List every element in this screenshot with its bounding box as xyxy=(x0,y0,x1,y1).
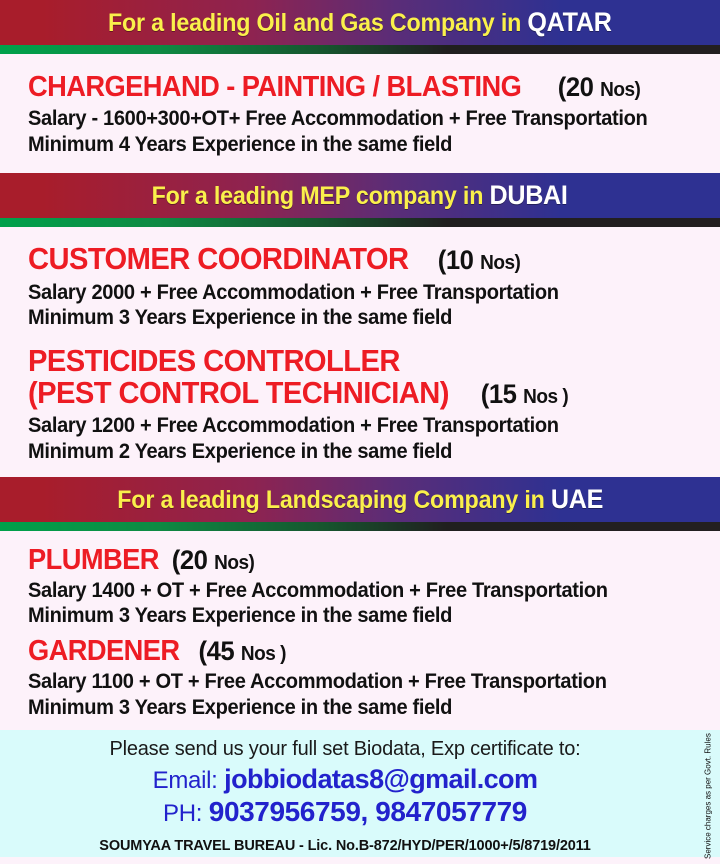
service-charge-note: Service charges as per Govt. Rules xyxy=(700,744,716,849)
job-heading: PLUMBER(20 Nos) xyxy=(28,545,710,575)
job-salary: Salary 2000 + Free Accommodation + Free … xyxy=(28,280,679,306)
job-vacancy-count: (15 Nos ) xyxy=(476,380,568,408)
job-heading: CHARGEHAND - PAINTING / BLASTING(20 Nos) xyxy=(28,72,710,102)
email-line: Email: jobbiodatas8@gmail.com xyxy=(0,764,720,795)
banner-lead-text: For a leading Oil and Gas Company in xyxy=(108,9,527,37)
job-count-number: (10 xyxy=(438,245,474,275)
agency-license-text: SOUMYAA TRAVEL BUREAU - Lic. No.B-872/HY… xyxy=(0,838,720,854)
job-vacancy-count: (20 Nos) xyxy=(167,546,254,574)
job-salary: Salary - 1600+300+OT+ Free Accommodation… xyxy=(28,106,679,132)
job-count-unit: Nos) xyxy=(600,79,640,101)
job-count-unit: Nos ) xyxy=(523,386,568,408)
contact-footer: Please send us your full set Biodata, Ex… xyxy=(0,730,720,857)
banner-country-name: QATAR xyxy=(528,7,612,37)
job-vacancy-count: (45 Nos ) xyxy=(189,637,286,665)
job-advertisement: For a leading Oil and Gas Company in QAT… xyxy=(0,0,720,864)
job-count-unit: Nos) xyxy=(480,252,520,274)
job-heading-line2: (PEST CONTROL TECHNICIAN)(15 Nos ) xyxy=(28,377,710,409)
section-banner-qatar: For a leading Oil and Gas Company in QAT… xyxy=(0,0,720,45)
email-address[interactable]: jobbiodatas8@gmail.com xyxy=(224,764,537,794)
submission-instruction: Please send us your full set Biodata, Ex… xyxy=(0,738,720,761)
section-banner-dubai: For a leading MEP company in DUBAI xyxy=(0,173,720,218)
job-title: CHARGEHAND - PAINTING / BLASTING xyxy=(28,72,521,102)
section-banner-uae: For a leading Landscaping Company in UAE xyxy=(0,477,720,522)
job-vacancy-count: (20 Nos) xyxy=(553,73,640,101)
job-heading: GARDENER(45 Nos ) xyxy=(28,636,710,666)
phone-numbers[interactable]: 9037956759, 9847057779 xyxy=(209,796,527,827)
job-heading: CUSTOMER COORDINATOR(10 Nos) xyxy=(28,243,710,275)
banner-title-uae: For a leading Landscaping Company in UAE xyxy=(117,484,603,515)
job-chargehand: CHARGEHAND - PAINTING / BLASTING(20 Nos)… xyxy=(0,72,720,157)
section-dubai: CUSTOMER COORDINATOR(10 Nos) Salary 2000… xyxy=(0,227,720,476)
job-salary: Salary 1200 + Free Accommodation + Free … xyxy=(28,413,679,439)
banner-title-dubai: For a leading MEP company in DUBAI xyxy=(152,180,568,211)
job-gardener: GARDENER(45 Nos ) Salary 1100 + OT + Fre… xyxy=(0,636,720,720)
phone-label: PH: xyxy=(163,800,202,827)
job-count-number: (45 xyxy=(199,636,235,666)
job-salary: Salary 1100 + OT + Free Accommodation + … xyxy=(28,669,679,695)
job-title: PESTICIDES CONTROLLER xyxy=(28,345,400,377)
job-experience: Minimum 2 Years Experience in the same f… xyxy=(28,439,679,465)
job-customer-coordinator: CUSTOMER COORDINATOR(10 Nos) Salary 2000… xyxy=(0,243,720,330)
job-count-unit: Nos ) xyxy=(241,643,286,665)
job-experience: Minimum 3 Years Experience in the same f… xyxy=(28,305,679,331)
phone-line: PH: 9037956759, 9847057779 xyxy=(0,796,720,828)
job-experience: Minimum 3 Years Experience in the same f… xyxy=(28,603,679,629)
banner-title-qatar: For a leading Oil and Gas Company in QAT… xyxy=(108,7,612,38)
job-count-number: (20 xyxy=(558,72,594,102)
job-title-secondary: (PEST CONTROL TECHNICIAN) xyxy=(28,377,449,409)
banner-strip-qatar xyxy=(0,45,720,54)
job-title: CUSTOMER COORDINATOR xyxy=(28,243,409,275)
job-title: GARDENER xyxy=(28,636,180,666)
job-heading-line1: PESTICIDES CONTROLLER xyxy=(28,345,710,377)
banner-lead-text: For a leading MEP company in xyxy=(152,182,490,210)
job-count-number: (20 xyxy=(172,545,208,575)
banner-strip-dubai xyxy=(0,218,720,227)
job-salary: Salary 1400 + OT + Free Accommodation + … xyxy=(28,578,679,604)
job-count-unit: Nos) xyxy=(214,552,254,574)
job-title: PLUMBER xyxy=(28,545,159,575)
job-pesticides-controller: PESTICIDES CONTROLLER (PEST CONTROL TECH… xyxy=(0,345,720,465)
email-label: Email: xyxy=(153,767,218,794)
job-vacancy-count: (10 Nos) xyxy=(433,246,520,274)
banner-country-name: DUBAI xyxy=(490,180,568,210)
job-plumber: PLUMBER(20 Nos) Salary 1400 + OT + Free … xyxy=(0,545,720,629)
job-experience: Minimum 4 Years Experience in the same f… xyxy=(28,132,679,158)
banner-strip-uae xyxy=(0,522,720,531)
section-qatar: CHARGEHAND - PAINTING / BLASTING(20 Nos)… xyxy=(0,54,720,173)
banner-country-name: UAE xyxy=(551,484,603,514)
job-experience: Minimum 3 Years Experience in the same f… xyxy=(28,695,679,721)
banner-lead-text: For a leading Landscaping Company in xyxy=(117,486,551,514)
section-uae: PLUMBER(20 Nos) Salary 1400 + OT + Free … xyxy=(0,531,720,731)
job-count-number: (15 xyxy=(480,379,516,409)
